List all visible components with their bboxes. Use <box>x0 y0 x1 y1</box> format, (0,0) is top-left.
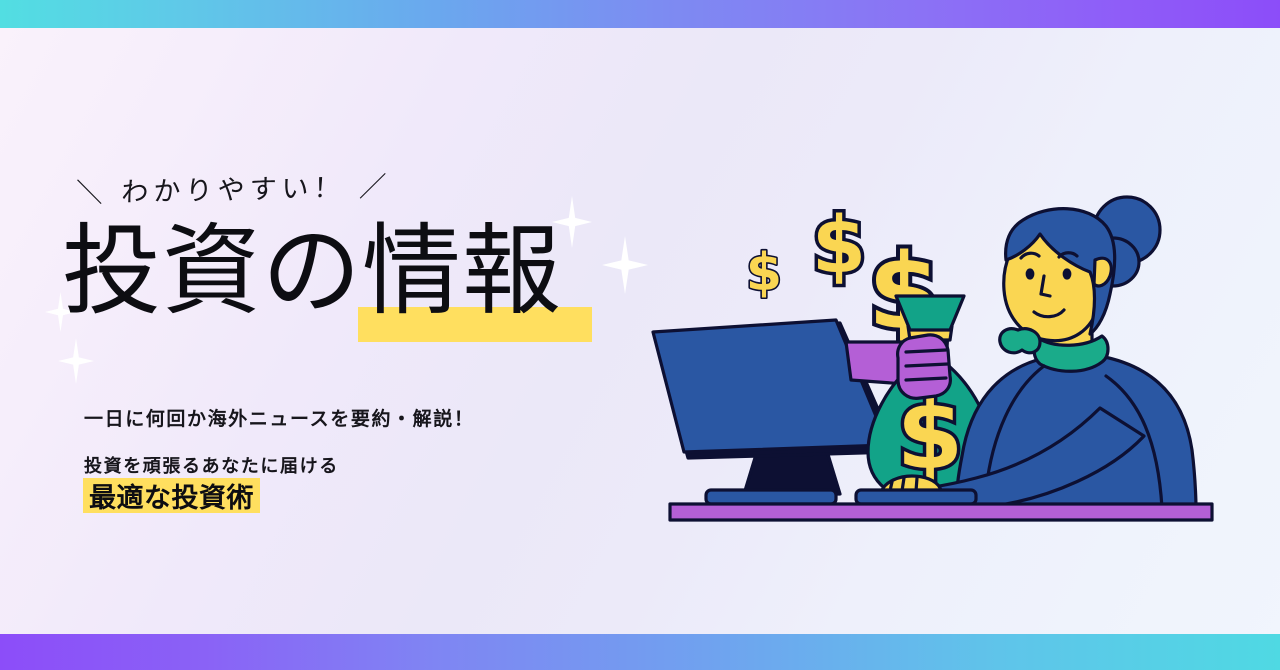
page-title: 投資の情報 <box>62 222 562 337</box>
svg-text:$: $ <box>812 201 866 291</box>
investment-info-banner: ＼ わかりやすい！ ／ 投資の情報 一日に何回か海外ニュースを要約・解説！ 投資… <box>0 0 1280 670</box>
money-bag-opening <box>896 296 964 330</box>
dollar-sign-small-icon: $ <box>746 243 782 303</box>
sparkle-icon-left-lower <box>58 338 94 384</box>
top-gradient-bar <box>0 0 1280 28</box>
bottom-gradient-bar <box>0 634 1280 670</box>
eyebrow-text: ＼ わかりやすい！ ／ <box>75 165 392 211</box>
eye-right <box>1063 268 1072 279</box>
subtitle-line-1: 一日に何回か海外ニュースを要約・解説！ <box>84 404 474 431</box>
subtitle-emphasis-highlight: 最適な投資術 <box>83 478 260 513</box>
eye-left <box>1026 268 1035 279</box>
subtitle-line-2: 投資を頑張るあなたに届ける <box>84 452 339 478</box>
investment-illustration: .ol { stroke:#0d1033; stroke-width:3.2; … <box>640 190 1240 540</box>
subtitle-emphasis-text: 最適な投資術 <box>89 476 254 515</box>
monitor-screen <box>653 320 888 452</box>
keyboard-right <box>856 490 976 504</box>
ear <box>1094 258 1111 286</box>
desk <box>670 504 1212 520</box>
svg-text:$: $ <box>746 243 782 303</box>
scarf-knot <box>1000 329 1040 353</box>
keyboard-left <box>706 490 836 504</box>
headline-text: 投資の情報 <box>62 222 562 321</box>
dollar-sign-medium-icon: $ <box>812 201 866 291</box>
